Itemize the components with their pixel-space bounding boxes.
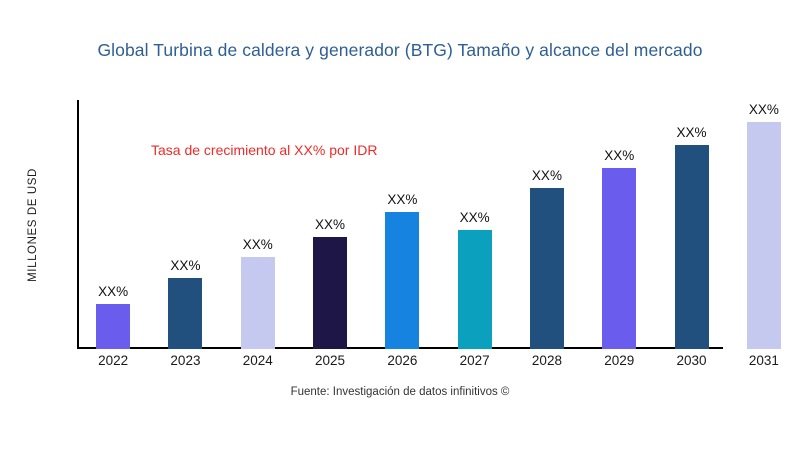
bar[interactable]	[602, 168, 636, 349]
bar-group: XX%	[222, 100, 294, 349]
bar-group: XX%	[583, 100, 655, 349]
bar-group: XX%	[439, 100, 511, 349]
bar[interactable]	[241, 257, 275, 349]
x-axis-tick-2026: 2026	[366, 353, 438, 368]
page-title: Global Turbina de caldera y generador (B…	[0, 40, 800, 61]
x-axis-tick-2025: 2025	[294, 353, 366, 368]
source-caption: Fuente: Investigación de datos infinitiv…	[0, 386, 800, 398]
bar[interactable]	[747, 122, 781, 349]
bar[interactable]	[458, 230, 492, 349]
x-axis-tick-labels: 2022202320242025202620272028202920302031	[77, 353, 800, 375]
bar-value-label: XX%	[170, 258, 200, 273]
x-axis-tick-2027: 2027	[439, 353, 511, 368]
x-axis-tick-2023: 2023	[149, 353, 221, 368]
y-axis-label-text: MILLONES DE USD	[27, 168, 39, 282]
bar[interactable]	[530, 188, 564, 349]
chart-container: Global Turbina de caldera y generador (B…	[0, 0, 800, 450]
bar-group: XX%	[366, 100, 438, 349]
bar-group: XX%	[149, 100, 221, 349]
x-axis-tick-2024: 2024	[222, 353, 294, 368]
growth-rate-annotation: Tasa de crecimiento al XX% por IDR	[151, 142, 377, 158]
bar-value-label: XX%	[677, 125, 707, 140]
bar-value-label: XX%	[604, 148, 634, 163]
bar-value-label: XX%	[98, 284, 128, 299]
bar-value-label: XX%	[460, 210, 490, 225]
x-axis-tick-2029: 2029	[583, 353, 655, 368]
bar[interactable]	[96, 304, 130, 349]
bar-group: XX%	[511, 100, 583, 349]
bar[interactable]	[313, 237, 347, 349]
x-axis-tick-2031: 2031	[728, 353, 800, 368]
bar[interactable]	[168, 278, 202, 349]
bar[interactable]	[675, 145, 709, 349]
bar-value-label: XX%	[749, 102, 779, 117]
bar-value-label: XX%	[315, 217, 345, 232]
x-axis-tick-2022: 2022	[77, 353, 149, 368]
bar-group: XX%	[77, 100, 149, 349]
y-axis-label: MILLONES DE USD	[22, 100, 44, 350]
bar[interactable]	[385, 212, 419, 349]
x-axis-tick-2028: 2028	[511, 353, 583, 368]
bar-value-label: XX%	[243, 237, 273, 252]
bar-group: XX%	[655, 100, 727, 349]
x-axis-tick-2030: 2030	[655, 353, 727, 368]
bar-series: XX%XX%XX%XX%XX%XX%XX%XX%XX%XX%	[77, 100, 800, 349]
bar-group: XX%	[728, 100, 800, 349]
bar-value-label: XX%	[532, 168, 562, 183]
bar-value-label: XX%	[387, 192, 417, 207]
bar-group: XX%	[294, 100, 366, 349]
